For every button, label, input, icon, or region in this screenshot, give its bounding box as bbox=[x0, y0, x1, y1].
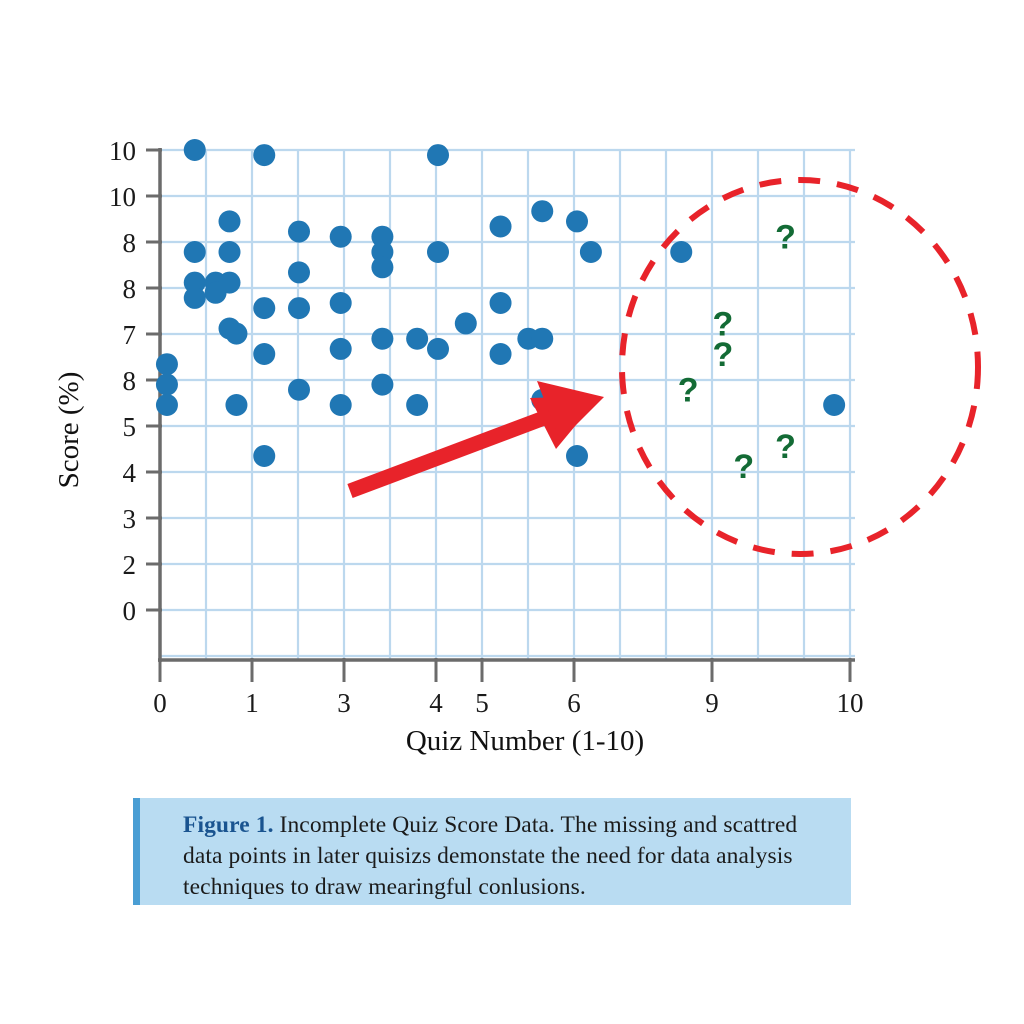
data-point bbox=[253, 445, 275, 467]
data-point bbox=[580, 241, 602, 263]
data-point bbox=[406, 394, 428, 416]
figure-caption-box: Figure 1. Incomplete Quiz Score Data. Th… bbox=[133, 798, 851, 905]
data-point bbox=[427, 338, 449, 360]
y-axis-tick-label: 5 bbox=[123, 412, 137, 442]
y-axis-tick-label: 8 bbox=[123, 366, 137, 396]
y-axis-tick-label: 8 bbox=[123, 228, 137, 258]
y-axis-tick-label: 10 bbox=[109, 182, 136, 212]
data-point bbox=[288, 221, 310, 243]
data-point bbox=[184, 287, 206, 309]
data-point bbox=[253, 297, 275, 319]
data-point bbox=[219, 241, 241, 263]
figure-container: 1010887854320 013456910 ?????? Score (%)… bbox=[0, 0, 1024, 1024]
data-point bbox=[330, 394, 352, 416]
data-point bbox=[566, 210, 588, 232]
figure-caption-text: Figure 1. Incomplete Quiz Score Data. Th… bbox=[183, 810, 838, 903]
y-axis-ticks: 1010887854320 bbox=[109, 136, 162, 626]
data-point bbox=[490, 343, 512, 365]
data-point bbox=[455, 312, 477, 334]
y-axis-tick-label: 8 bbox=[123, 274, 137, 304]
missing-data-markers: ?????? bbox=[678, 219, 796, 487]
data-point bbox=[371, 374, 393, 396]
figure-caption-label: Figure 1. bbox=[183, 812, 274, 838]
y-axis-tick-label: 7 bbox=[123, 320, 137, 350]
data-point bbox=[253, 144, 275, 166]
data-point bbox=[566, 445, 588, 467]
data-point bbox=[531, 200, 553, 222]
x-axis-tick-label: 4 bbox=[429, 688, 443, 718]
data-point bbox=[330, 292, 352, 314]
y-axis-tick-label: 10 bbox=[109, 136, 136, 166]
missing-data-question-mark: ? bbox=[775, 428, 796, 466]
scatter-chart: 1010887854320 013456910 ?????? Score (%)… bbox=[0, 0, 1024, 790]
data-point bbox=[288, 297, 310, 319]
data-point bbox=[288, 261, 310, 283]
y-axis-tick-label: 4 bbox=[123, 458, 137, 488]
figure-caption-body: Incomplete Quiz Score Data. The missing … bbox=[183, 812, 797, 900]
data-point bbox=[490, 292, 512, 314]
data-point bbox=[371, 256, 393, 278]
x-axis-tick-label: 5 bbox=[475, 688, 489, 718]
x-axis-ticks: 013456910 bbox=[153, 658, 863, 718]
data-point bbox=[156, 394, 178, 416]
x-axis-tick-label: 0 bbox=[153, 688, 167, 718]
x-axis-tick-label: 9 bbox=[705, 688, 719, 718]
y-axis-tick-label: 2 bbox=[123, 550, 137, 580]
data-point bbox=[219, 272, 241, 294]
data-point bbox=[156, 353, 178, 375]
data-point bbox=[427, 144, 449, 166]
x-axis-title: Quiz Number (1-10) bbox=[406, 725, 644, 757]
data-point bbox=[219, 210, 241, 232]
data-point bbox=[490, 216, 512, 238]
data-point bbox=[531, 328, 553, 350]
y-axis-tick-label: 0 bbox=[123, 596, 137, 626]
x-axis-tick-label: 10 bbox=[837, 688, 864, 718]
data-point bbox=[330, 338, 352, 360]
data-point bbox=[670, 241, 692, 263]
missing-data-question-mark: ? bbox=[713, 336, 734, 374]
data-point bbox=[156, 374, 178, 396]
x-axis-tick-label: 1 bbox=[245, 688, 259, 718]
missing-data-question-mark: ? bbox=[733, 448, 754, 486]
data-point bbox=[288, 379, 310, 401]
data-point bbox=[184, 241, 206, 263]
missing-data-question-mark: ? bbox=[678, 372, 699, 410]
x-axis-tick-label: 3 bbox=[337, 688, 351, 718]
data-point bbox=[225, 394, 247, 416]
trend-arrow bbox=[350, 381, 604, 491]
data-point bbox=[823, 394, 845, 416]
x-axis-tick-label: 6 bbox=[567, 688, 581, 718]
data-point bbox=[427, 241, 449, 263]
y-axis-title: Score (%) bbox=[53, 372, 85, 489]
data-point bbox=[184, 139, 206, 161]
missing-data-question-mark: ? bbox=[775, 219, 796, 257]
y-axis-tick-label: 3 bbox=[123, 504, 137, 534]
data-point bbox=[406, 328, 428, 350]
data-point bbox=[253, 343, 275, 365]
data-point bbox=[330, 226, 352, 248]
data-point bbox=[371, 328, 393, 350]
data-point bbox=[225, 323, 247, 345]
missing-data-region-ellipse bbox=[622, 180, 978, 554]
